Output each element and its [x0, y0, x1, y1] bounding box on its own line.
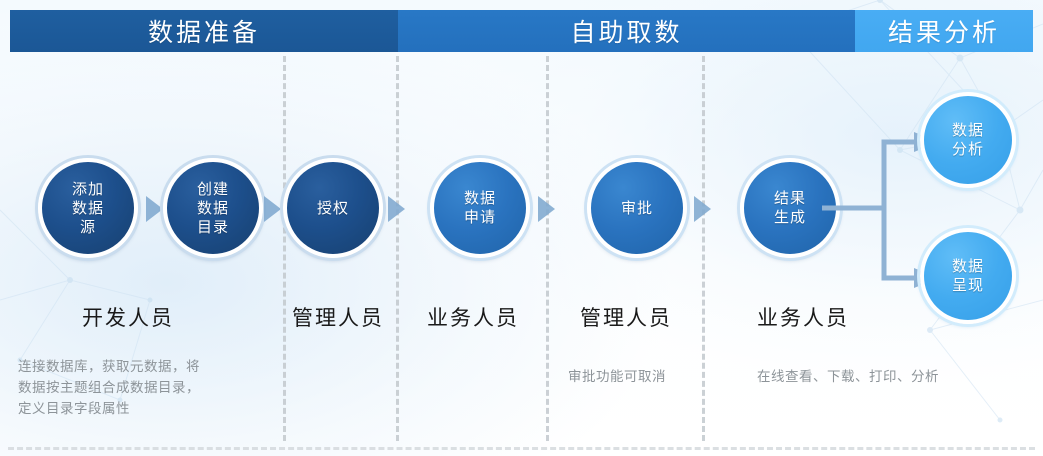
role-label-business-2: 业务人员	[757, 302, 849, 332]
node-label-approval: 审批	[621, 199, 653, 218]
node-data-analysis[interactable]: 数据 分析	[920, 92, 1016, 188]
lane-divider-3	[546, 56, 549, 441]
phase-label-self-service: 自助取数	[570, 13, 682, 49]
phase-label-data-preparation: 数据准备	[148, 13, 260, 49]
phase-band-row: 数据准备 自助取数 结果分析	[10, 10, 1033, 52]
description-result: 在线查看、下载、打印、分析	[757, 366, 1017, 387]
phase-label-result-analysis: 结果分析	[888, 13, 1000, 49]
arrow-1	[146, 196, 163, 222]
node-label-data-present: 数据 呈现	[952, 257, 984, 295]
node-label-authorize: 授权	[317, 199, 349, 218]
bottom-divider	[8, 447, 1035, 450]
flowchart-canvas: 数据准备 自助取数 结果分析 添加 数据 源 创建 数据 目录 授权 数据 申请…	[0, 0, 1043, 456]
role-label-admin-2: 管理人员	[580, 302, 672, 332]
node-approval[interactable]: 审批	[587, 158, 687, 258]
role-label-business-1: 业务人员	[427, 302, 519, 332]
node-label-add-datasource: 添加 数据 源	[72, 180, 104, 237]
node-label-result-generate: 结果 生成	[774, 189, 806, 227]
arrow-4	[538, 196, 555, 222]
phase-band-data-preparation[interactable]: 数据准备	[10, 10, 398, 52]
node-label-create-catalog: 创建 数据 目录	[197, 180, 229, 237]
description-approval: 审批功能可取消	[568, 366, 718, 387]
node-label-data-analysis: 数据 分析	[952, 121, 984, 159]
node-label-data-request: 数据 申请	[464, 189, 496, 227]
arrow-3	[388, 196, 405, 222]
node-data-request[interactable]: 数据 申请	[430, 158, 530, 258]
node-authorize[interactable]: 授权	[283, 158, 383, 258]
description-data-preparation: 连接数据库，获取元数据，将 数据按主题组合成数据目录， 定义目录字段属性	[18, 356, 274, 419]
node-data-present[interactable]: 数据 呈现	[920, 228, 1016, 324]
phase-band-self-service[interactable]: 自助取数	[398, 10, 855, 52]
lane-divider-1	[283, 56, 286, 441]
role-label-admin-1: 管理人员	[292, 302, 384, 332]
arrow-5	[694, 196, 711, 222]
node-add-datasource[interactable]: 添加 数据 源	[38, 158, 138, 258]
node-create-catalog[interactable]: 创建 数据 目录	[163, 158, 263, 258]
lane-divider-2	[396, 56, 399, 441]
phase-band-result-analysis[interactable]: 结果分析	[855, 10, 1033, 52]
arrow-2	[264, 196, 281, 222]
role-label-developer: 开发人员	[82, 302, 174, 332]
